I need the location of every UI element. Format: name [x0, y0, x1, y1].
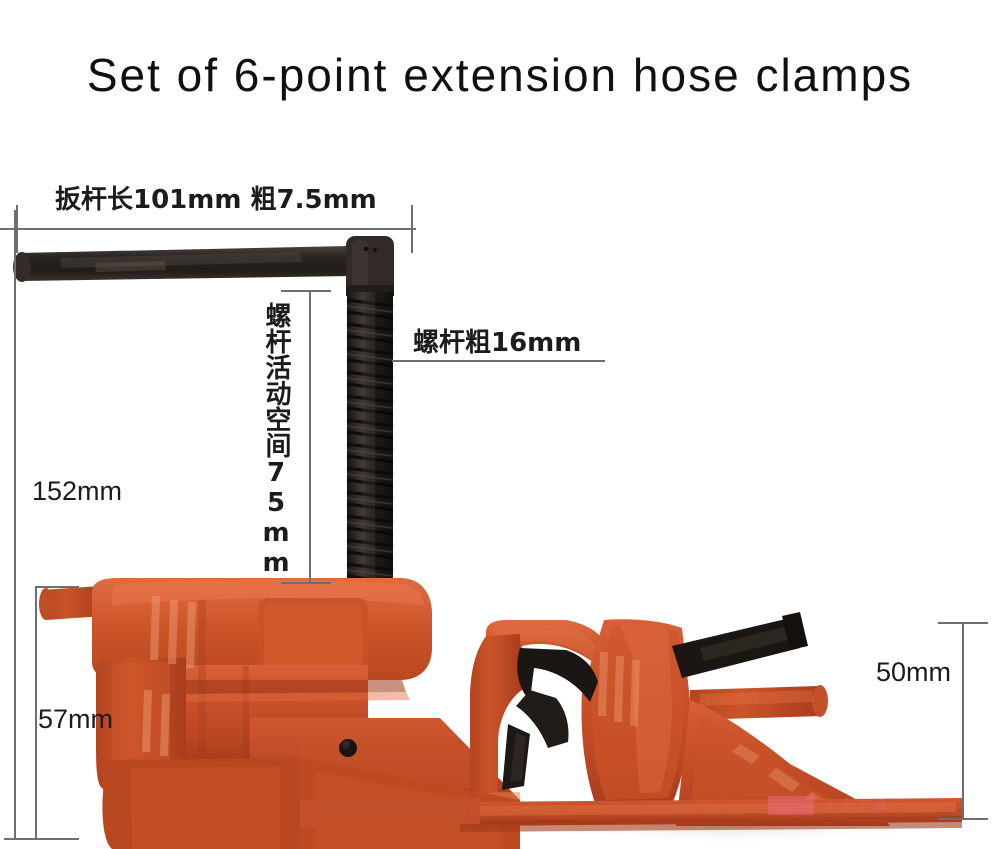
dim-tick-body-height-bottom [25, 838, 79, 840]
dim-tick-body-height-top [35, 586, 79, 588]
dim-line-total-height [14, 210, 16, 840]
product-illustration [0, 0, 1000, 849]
dim-line-screw-travel [309, 290, 311, 584]
dim-label-body-height: 57mm [38, 704, 113, 735]
product-image-canvas: Set of 6-point extension hose clamps [0, 0, 1000, 849]
screw-head-part [346, 236, 394, 296]
dim-tick-right-piece-bottom [938, 818, 988, 820]
threaded-screw-rod-part [347, 292, 393, 588]
dim-tick-handle-bar-right [411, 205, 413, 253]
dim-line-body-height [35, 586, 37, 840]
dim-tick-screw-travel-top [281, 290, 331, 292]
dim-tick-right-piece-top [938, 622, 988, 624]
dim-line-handle-bar-horizontal [0, 228, 416, 230]
dim-tick-screw-travel-bottom [281, 582, 331, 584]
dim-line-right-piece-height [962, 622, 964, 820]
handle-bar-part [13, 246, 352, 282]
dim-tick-handle-bar-left [16, 205, 18, 253]
dim-line-screw-thickness [392, 360, 605, 362]
dim-label-right-piece-height: 50mm [876, 657, 951, 688]
dim-label-total-height: 152mm [32, 476, 122, 507]
dim-label-screw-travel: 螺杆活动空间75mm [258, 302, 295, 578]
dim-label-handle-bar: 扳杆长101mm 粗7.5mm [55, 179, 377, 216]
dim-label-screw-thickness: 螺杆粗16mm [413, 322, 581, 359]
